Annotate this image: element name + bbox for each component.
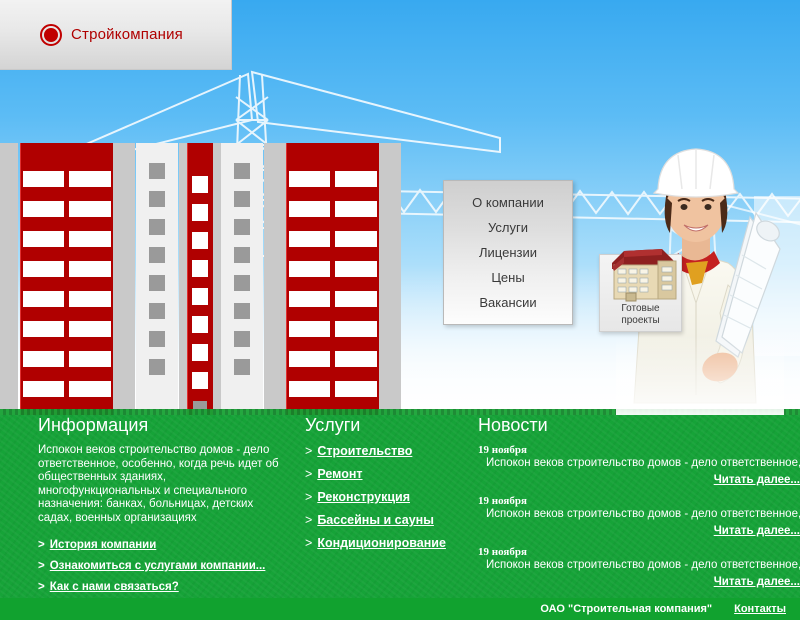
- info-link-services[interactable]: >Ознакомиться с услугами компании...: [38, 560, 290, 572]
- caption-line-2: проекты: [621, 315, 659, 326]
- news-text: Испокон веков строительство домов - дело…: [486, 559, 800, 571]
- news-read-more-label[interactable]: Читать далее...: [714, 525, 800, 537]
- info-link-label[interactable]: История компании: [50, 539, 157, 551]
- chevron-right-icon: >: [38, 539, 45, 551]
- building-red-tower: [20, 143, 114, 415]
- building-light: [221, 143, 263, 415]
- service-item-pools-saunas[interactable]: >Бассейны и сауны: [305, 513, 485, 527]
- info-link-history[interactable]: >История компании: [38, 539, 290, 551]
- service-label[interactable]: Ремонт: [317, 467, 362, 481]
- building-slab: [0, 143, 18, 415]
- service-label[interactable]: Бассейны и сауны: [317, 513, 434, 527]
- news-read-more[interactable]: Читать далее...: [478, 470, 800, 488]
- news-read-more-label[interactable]: Читать далее...: [714, 576, 800, 588]
- news-item: 19 ноября Испокон веков строительство до…: [478, 495, 800, 539]
- service-label[interactable]: Реконструкция: [317, 490, 410, 504]
- building-slab: [179, 143, 187, 415]
- news-item: 19 ноября Испокон веков строительство до…: [478, 444, 800, 488]
- news-read-more-label[interactable]: Читать далее...: [714, 474, 800, 486]
- content-area: Информация Испокон веков строительство д…: [0, 415, 800, 598]
- building-red-tower: [286, 143, 380, 415]
- building-slab: [113, 143, 135, 415]
- main-navigation-menu[interactable]: О компании Услуги Лицензии Цены Вакансии: [443, 180, 573, 325]
- building-red-narrow: [187, 143, 214, 415]
- footer-contacts-link[interactable]: Контакты: [734, 603, 786, 615]
- info-column: Информация Испокон веков строительство д…: [38, 415, 290, 593]
- chevron-right-icon: >: [305, 467, 312, 481]
- info-link-label[interactable]: Как с нами связаться?: [50, 581, 179, 593]
- site-logo-panel[interactable]: Стройкомпания: [0, 0, 232, 70]
- nav-item-services[interactable]: Услуги: [488, 215, 528, 240]
- services-column: Услуги >Строительство >Ремонт >Реконстру…: [305, 415, 485, 559]
- news-item: 19 ноября Испокон веков строительство до…: [478, 546, 800, 590]
- news-date: 19 ноября: [478, 444, 800, 456]
- site-footer: ОАО "Строительная компания" Контакты: [0, 598, 800, 620]
- chevron-right-icon: >: [38, 581, 45, 593]
- hero-banner: О компании Услуги Лицензии Цены Вакансии: [0, 0, 800, 415]
- nav-item-prices[interactable]: Цены: [491, 265, 524, 290]
- service-item-reconstruction[interactable]: >Реконструкция: [305, 490, 485, 504]
- nav-item-about[interactable]: О компании: [472, 190, 544, 215]
- service-item-repair[interactable]: >Ремонт: [305, 467, 485, 481]
- building-slab: [213, 143, 221, 415]
- caption-line-1: Готовые: [621, 303, 659, 314]
- page-root: О компании Услуги Лицензии Цены Вакансии: [0, 0, 800, 620]
- info-paragraph: Испокон веков строительство домов - дело…: [38, 444, 290, 525]
- service-label[interactable]: Строительство: [317, 444, 412, 458]
- nav-item-licenses[interactable]: Лицензии: [479, 240, 537, 265]
- building-slab: [379, 143, 401, 415]
- info-heading: Информация: [38, 415, 290, 436]
- chevron-right-icon: >: [305, 513, 312, 527]
- ready-projects-caption: Готовые проекты: [600, 303, 681, 327]
- chevron-right-icon: >: [305, 536, 312, 550]
- chevron-right-icon: >: [38, 560, 45, 572]
- building-light: [136, 143, 178, 415]
- service-item-air-conditioning[interactable]: >Кондиционирование: [305, 536, 485, 550]
- building-slab: [264, 143, 286, 415]
- footer-company-name: ОАО "Строительная компания": [540, 603, 712, 615]
- logo-circle-icon: [40, 24, 62, 46]
- nav-item-vacancies[interactable]: Вакансии: [479, 290, 536, 315]
- news-read-more[interactable]: Читать далее...: [478, 521, 800, 539]
- news-read-more[interactable]: Читать далее...: [478, 572, 800, 590]
- services-heading: Услуги: [305, 415, 485, 436]
- news-date: 19 ноября: [478, 546, 800, 558]
- service-item-construction[interactable]: >Строительство: [305, 444, 485, 458]
- news-text: Испокон веков строительство домов - дело…: [486, 508, 800, 520]
- news-column: Новости 19 ноября Испокон веков строител…: [478, 415, 800, 597]
- chevron-right-icon: >: [305, 444, 312, 458]
- news-date: 19 ноября: [478, 495, 800, 507]
- chevron-right-icon: >: [305, 490, 312, 504]
- site-title: Стройкомпания: [71, 26, 183, 43]
- info-link-contact[interactable]: >Как с нами связаться?: [38, 581, 290, 593]
- ready-projects-card[interactable]: Готовые проекты: [599, 254, 682, 332]
- building-thumbnail-icon: [604, 237, 680, 303]
- news-heading: Новости: [478, 415, 800, 436]
- info-link-label[interactable]: Ознакомиться с услугами компании...: [50, 560, 266, 572]
- news-text: Испокон веков строительство домов - дело…: [486, 457, 800, 469]
- service-label[interactable]: Кондиционирование: [317, 536, 446, 550]
